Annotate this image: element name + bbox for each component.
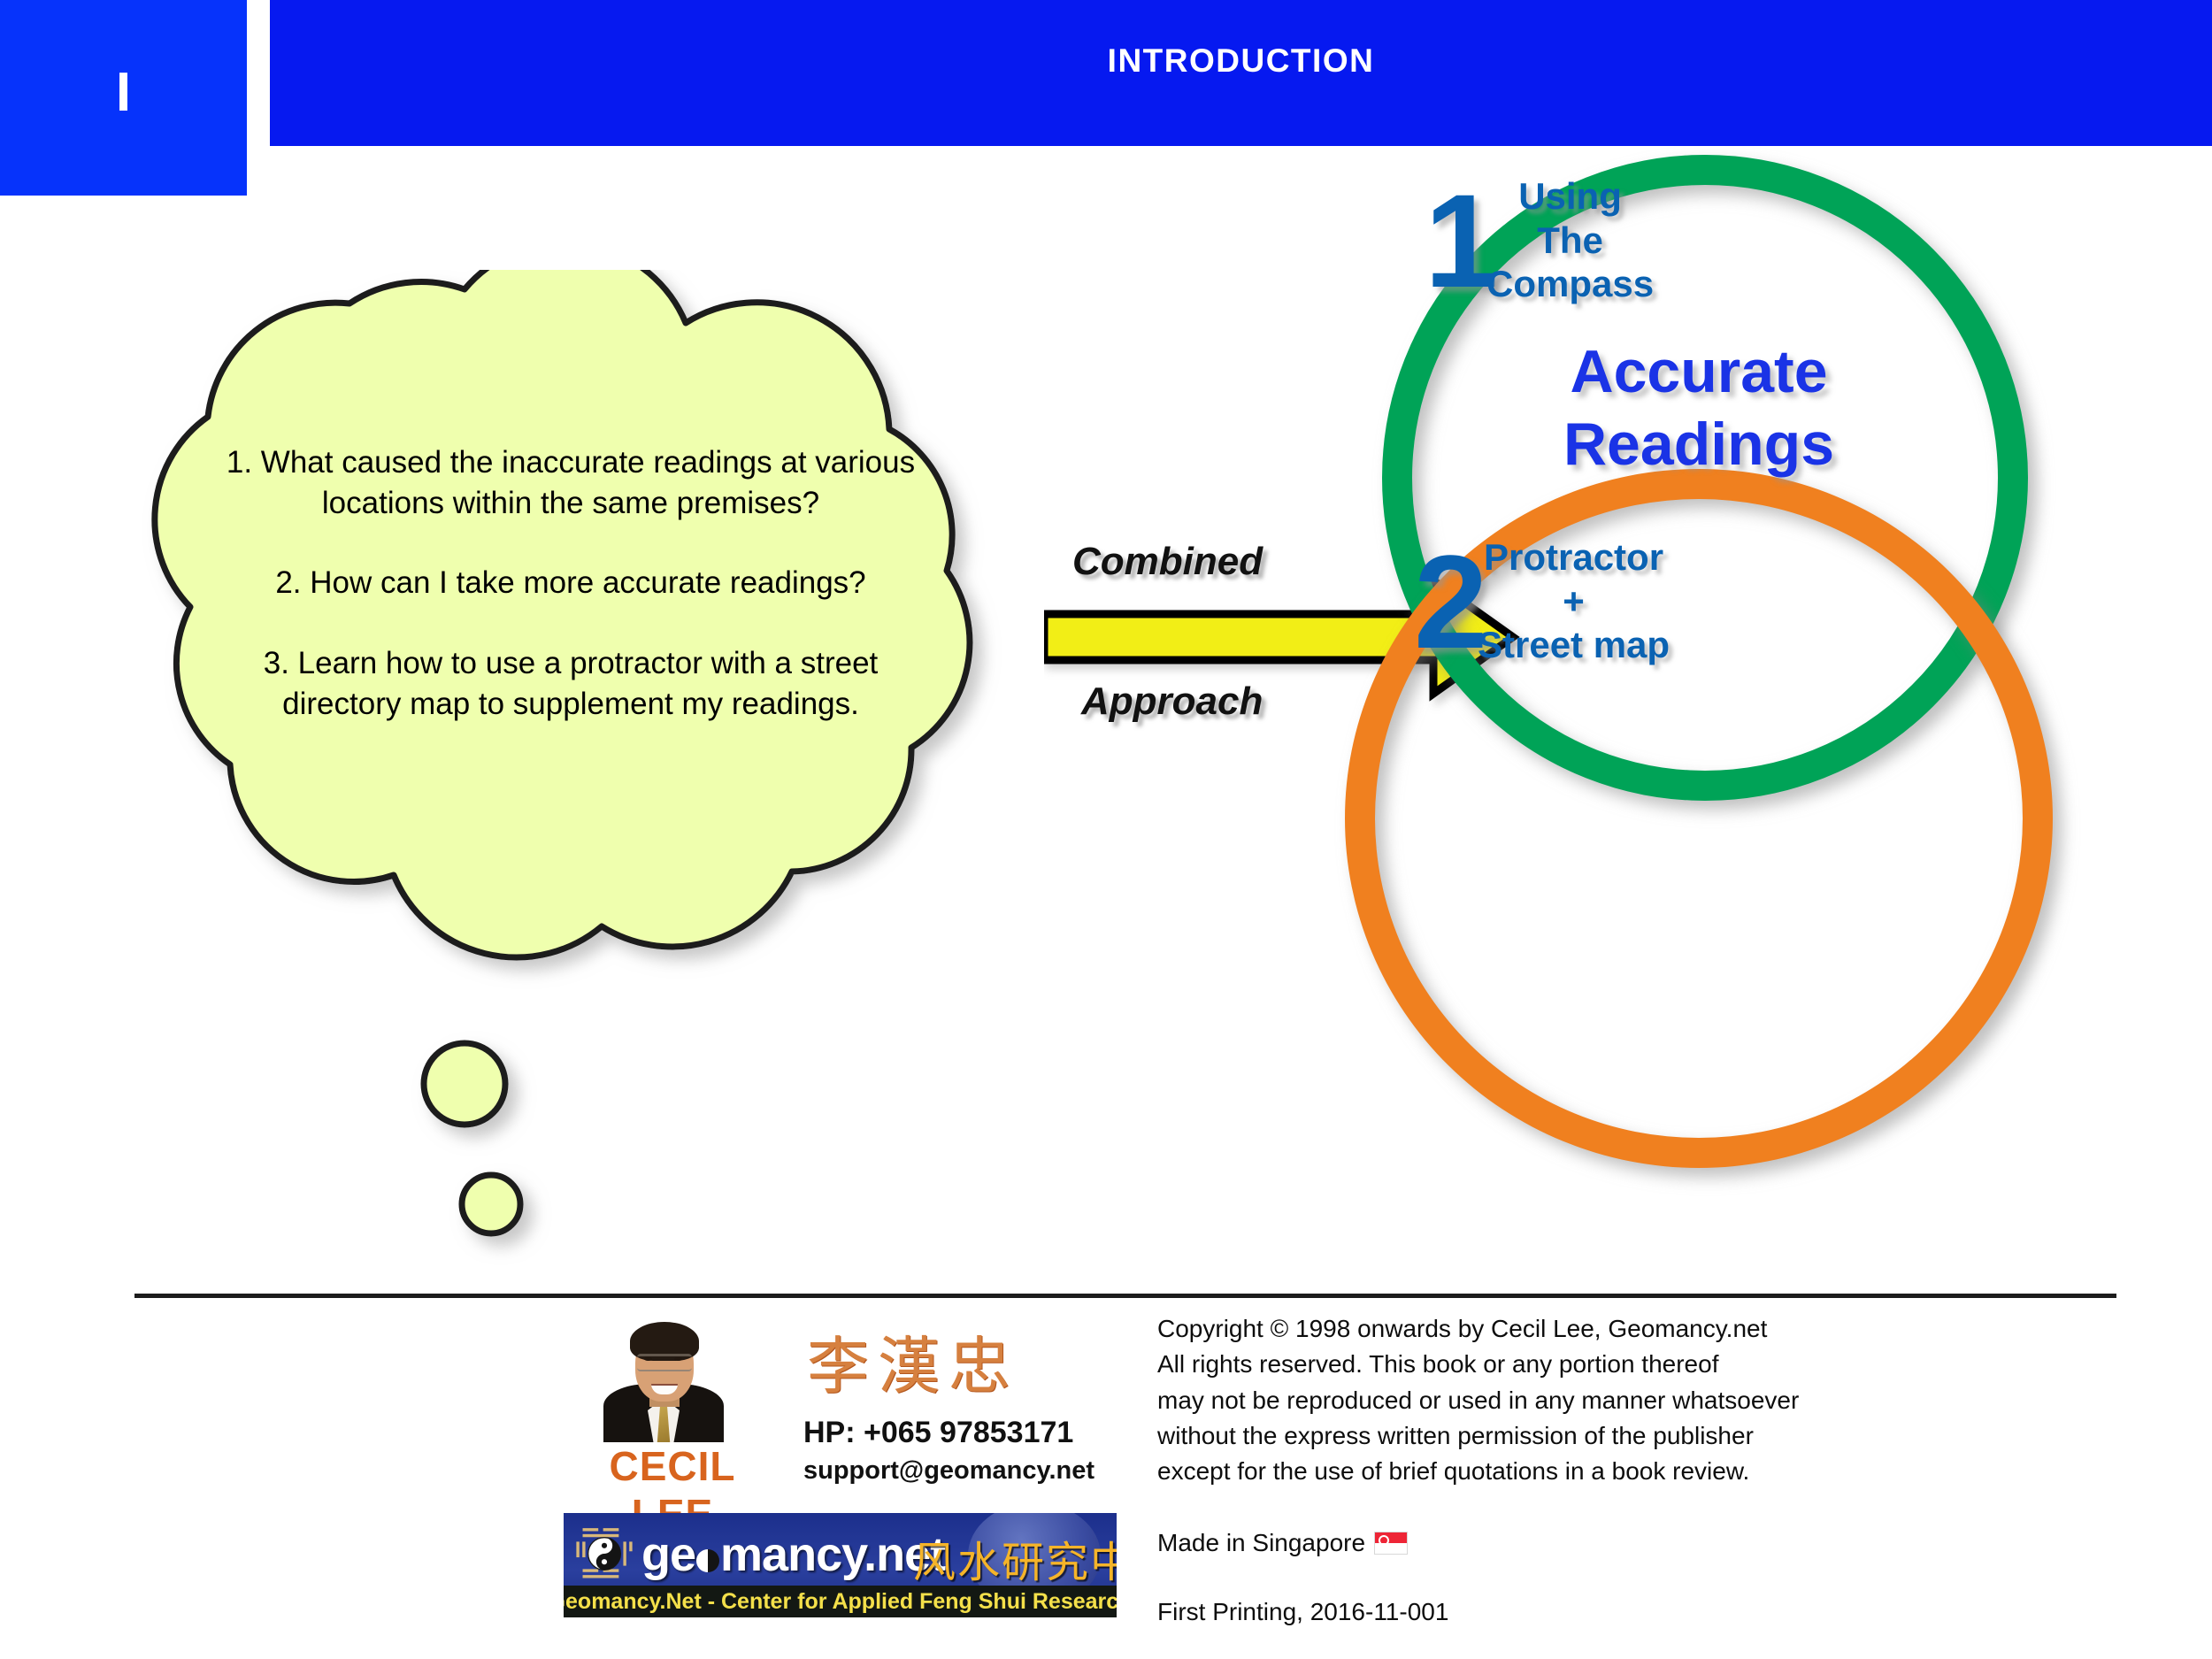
thought-cloud-shape [49,270,1137,1296]
page-title: INTRODUCTION [270,42,2212,80]
geomancy-tagline: Geomancy.Net - Center for Applied Feng S… [564,1589,1117,1615]
footer-divider [134,1294,2116,1298]
made-in-line: Made in Singapore [1157,1525,1954,1561]
first-printing-text: First Printing, 2016-11-001 [1157,1594,1954,1630]
geomancy-wordmark: gemancy.net [641,1527,945,1582]
geomancy-brand-banner: gemancy.net 风水研究中心 Geomancy.Net - Center… [564,1513,1117,1617]
circle-two-numeral: 2 [1414,535,1487,668]
bagua-yinyang-icon [574,1524,634,1584]
singapore-flag-icon [1374,1532,1408,1555]
author-portrait [596,1311,731,1442]
circle-two-label: Protractor + Street map [1478,535,1670,667]
footer-brand-block: CECIL LEE 李漢忠 HP: +065 97853171 support@… [559,1308,1143,1644]
header-banner: INTRODUCTION [270,0,2212,146]
thought-item-3: 3. Learn how to use a protractor with a … [204,643,938,725]
thought-cloud: 1. What caused the inaccurate readings a… [49,270,1137,1296]
author-name-chinese: 李漢忠 [807,1317,1019,1406]
contact-phone: HP: +065 97853171 [803,1416,1073,1450]
yinyang-dot-icon [696,1549,719,1572]
geomancy-tagline-strip: Geomancy.Net - Center for Applied Feng S… [564,1586,1117,1617]
thought-cloud-text: 1. What caused the inaccurate readings a… [204,442,938,725]
wordmark-suffix: mancy.net [720,1528,945,1581]
venn-center-label: Accurate Readings [1453,336,1945,480]
venn-diagram: 1 Using The Compass Accurate Readings 2 … [1345,155,2115,1040]
copyright-block: Copyright © 1998 onwards by Cecil Lee, G… [1157,1311,1954,1630]
contact-email: support@geomancy.net [803,1456,1094,1486]
geomancy-wordmark-chinese: 风水研究中心 [913,1527,1117,1589]
circle-one-label: Using The Compass [1486,174,1654,306]
section-numeral: I [116,65,131,120]
copyright-text: Copyright © 1998 onwards by Cecil Lee, G… [1157,1311,1954,1490]
thought-item-2: 2. How can I take more accurate readings… [204,563,938,603]
header-section-box: I [0,0,247,196]
wordmark-prefix: ge [641,1528,695,1581]
made-in-text: Made in Singapore [1157,1525,1365,1561]
thought-item-1: 1. What caused the inaccurate readings a… [204,442,938,524]
